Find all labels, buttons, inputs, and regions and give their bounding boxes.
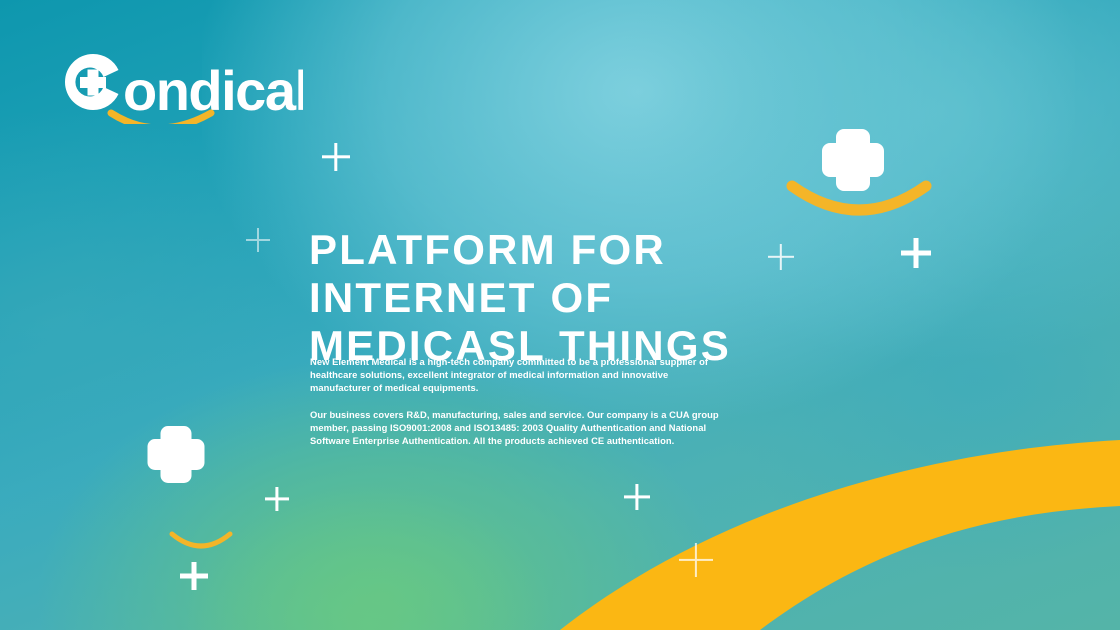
body-paragraph-1: New Element Medical is a high-tech compa… bbox=[310, 355, 725, 395]
background-glow-green-secondary bbox=[179, 479, 560, 630]
logo-c-with-cross-icon bbox=[65, 54, 119, 110]
presentation-slide: ondical PLATFORM FOR INTERNET OF MEDICAS… bbox=[0, 0, 1120, 630]
headline-line-1: PLATFORM FOR bbox=[309, 226, 779, 274]
body-copy: New Element Medical is a high-tech compa… bbox=[310, 355, 725, 447]
brand-logo[interactable]: ondical bbox=[63, 52, 303, 124]
headline-line-2: INTERNET OF bbox=[309, 274, 779, 322]
page-title: PLATFORM FOR INTERNET OF MEDICASL THINGS bbox=[309, 226, 779, 370]
body-paragraph-2: Our business covers R&D, manufacturing, … bbox=[310, 408, 725, 448]
